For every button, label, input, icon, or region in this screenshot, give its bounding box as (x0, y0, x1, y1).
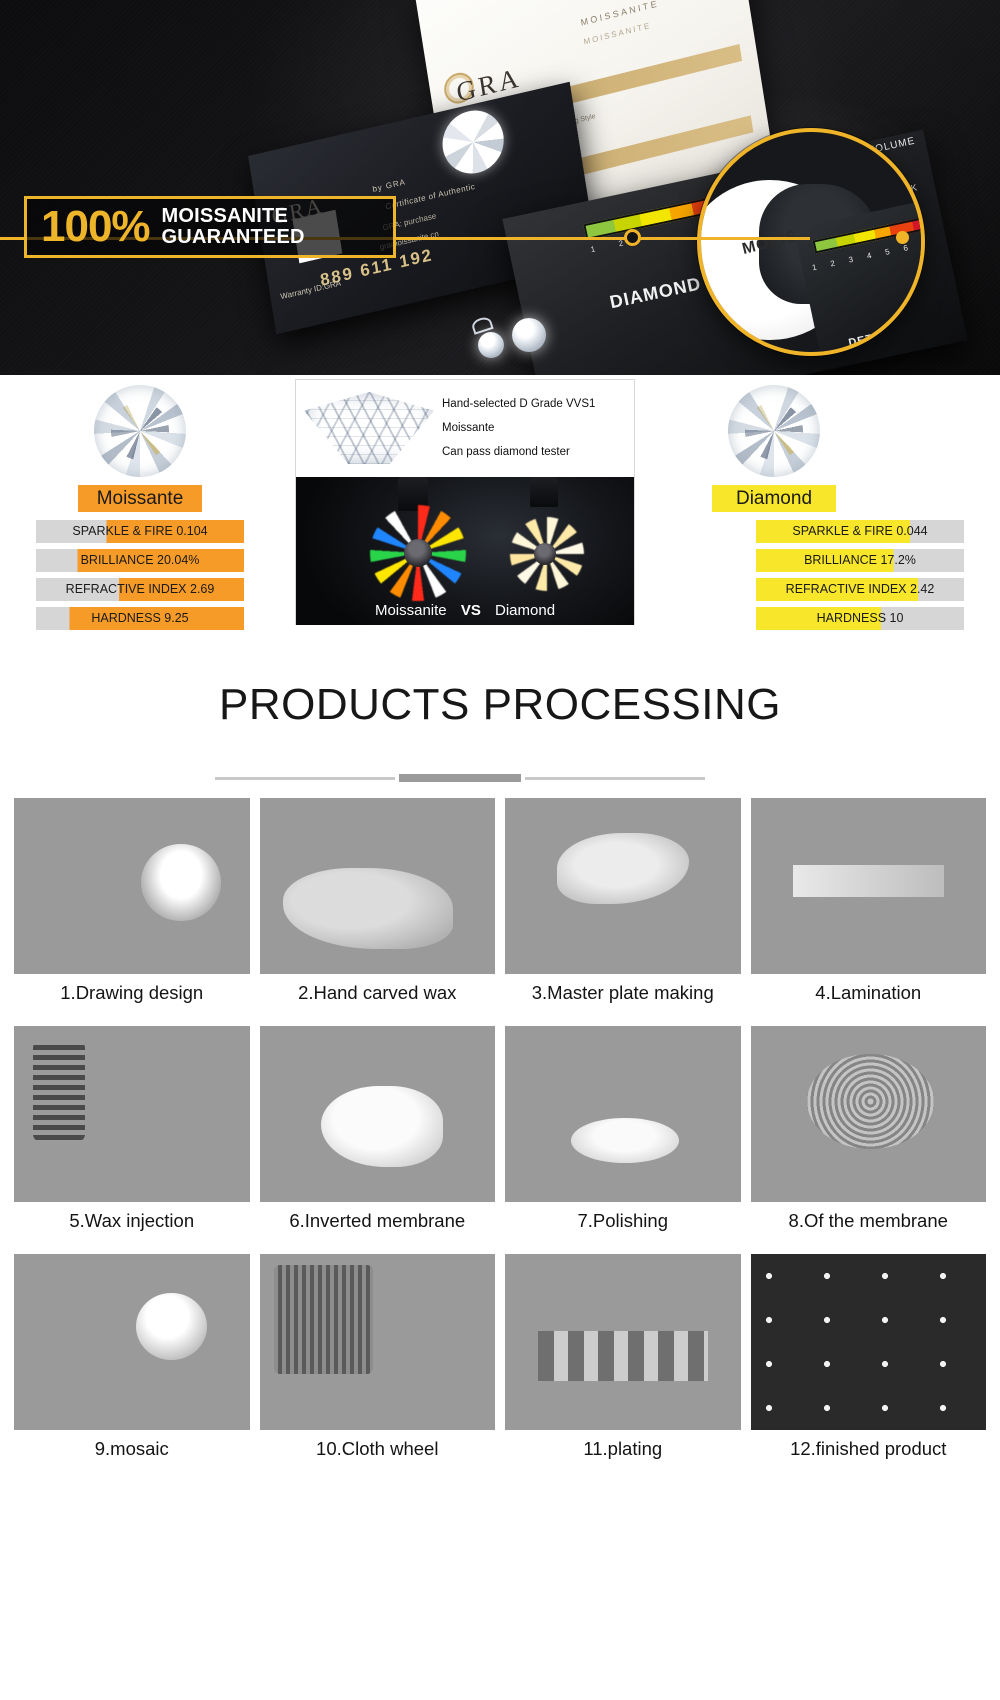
side-view-gem-facets (304, 392, 434, 464)
guarantee-badge: 100% MOISSANITE GUARANTEED (24, 196, 396, 258)
divider-segment-left (215, 777, 395, 780)
warranty-diamond-icon (438, 104, 508, 179)
step-thumbnail (14, 1026, 250, 1202)
callout-source-dot (624, 229, 641, 246)
processing-step: 3.Master plate making (505, 798, 741, 1018)
step-caption: 11.plating (505, 1430, 741, 1474)
earring-large-stone (512, 318, 546, 352)
step-caption: 2.Hand carved wax (260, 974, 496, 1018)
feature-bullet: Moissante (442, 416, 630, 440)
step-thumbnail (260, 1254, 496, 1430)
step-caption: 6.Inverted membrane (260, 1202, 496, 1246)
tester-device-label: DIAMOND (608, 273, 703, 313)
processing-step: 12.finished product (751, 1254, 987, 1474)
processing-step: 5.Wax injection (14, 1026, 250, 1246)
step-thumbnail (505, 1026, 741, 1202)
processing-step: 9.mosaic (14, 1254, 250, 1474)
processing-step: 1.Drawing design (14, 798, 250, 1018)
step-thumbnail (14, 798, 250, 974)
processing-step: 6.Inverted membrane (260, 1026, 496, 1246)
processing-step: 4.Lamination (751, 798, 987, 1018)
step-thumbnail (14, 1254, 250, 1430)
tweezer-holder-right (530, 477, 558, 507)
center-panel-text-area: Hand-selected D Grade VVS1 Moissante Can… (296, 380, 634, 477)
caption-right-label: Diamond (495, 602, 555, 619)
step-thumbnail (260, 798, 496, 974)
diamond-stone-core (534, 543, 556, 565)
step-thumbnail (751, 1026, 987, 1202)
caption-left-label: Moissanite (375, 602, 447, 619)
feature-bullet: Can pass diamond tester (442, 440, 630, 464)
step-caption: 9.mosaic (14, 1430, 250, 1474)
warranty-id-label: Warranty ID:GRA (280, 278, 342, 301)
sparkle-comparison-photo: Moissanite VS Diamond (296, 477, 634, 625)
diamond-spec-row: SPARKLE & FIRE 0.044 (756, 520, 964, 543)
processing-row: 1.Drawing design 2.Hand carved wax 3.Mas… (14, 798, 986, 1018)
moissanite-spec-row: BRILLIANCE 20.04% (36, 549, 244, 572)
callout-target-dot (896, 231, 909, 244)
guarantee-text: MOISSANITE GUARANTEED (162, 206, 305, 248)
processing-step: 7.Polishing (505, 1026, 741, 1246)
title-divider (215, 774, 705, 782)
divider-segment-right (525, 777, 705, 780)
step-caption: 4.Lamination (751, 974, 987, 1018)
hero-banner: GRA MOISSANITE MOISSANITE MW11182 GRADIN… (0, 0, 1000, 375)
rings-tray-grid (751, 1254, 987, 1430)
magnifier-zoom-circle: MOISSANITE 1 2 3 4 5 6 7 8 DIA DETECTOR (697, 128, 925, 356)
step-thumbnail (260, 1026, 496, 1202)
processing-step: 2.Hand carved wax (260, 798, 496, 1018)
page-title: PRODUCTS PROCESSING (0, 680, 1000, 730)
step-caption: 10.Cloth wheel (260, 1430, 496, 1474)
comparison-caption: Moissanite VS Diamond (296, 602, 634, 619)
step-caption: 8.Of the membrane (751, 1202, 987, 1246)
diamond-gem-icon (728, 385, 820, 477)
processing-step: 11.plating (505, 1254, 741, 1474)
diamond-spec-row: HARDNESS 10 (756, 607, 964, 630)
moissanite-spec-row: SPARKLE & FIRE 0.104 (36, 520, 244, 543)
guarantee-line-2: GUARANTEED (162, 227, 305, 248)
moissanite-gem-icon (94, 385, 186, 477)
diamond-spec-row: REFRACTIVE INDEX 2.42 (756, 578, 964, 601)
step-caption: 3.Master plate making (505, 974, 741, 1018)
step-thumbnail (751, 798, 987, 974)
guarantee-percent: 100% (27, 205, 150, 249)
step-caption: 7.Polishing (505, 1202, 741, 1246)
warranty-by-line: by GRA (372, 177, 407, 194)
feature-bullet: Hand-selected D Grade VVS1 (442, 392, 630, 416)
feature-bullet-list: Hand-selected D Grade VVS1 Moissante Can… (442, 392, 630, 464)
step-caption: 5.Wax injection (14, 1202, 250, 1246)
processing-step: 8.Of the membrane (751, 1026, 987, 1246)
diamond-spec-row: BRILLIANCE 17.2% (756, 549, 964, 572)
step-thumbnail (751, 1254, 987, 1430)
step-thumbnail (505, 1254, 741, 1430)
step-thumbnail (505, 798, 741, 974)
diamond-title-chip: Diamond (712, 485, 836, 512)
step-caption: 1.Drawing design (14, 974, 250, 1018)
center-feature-panel: Hand-selected D Grade VVS1 Moissante Can… (295, 379, 635, 625)
divider-center-block (399, 774, 521, 782)
processing-step: 10.Cloth wheel (260, 1254, 496, 1474)
moissanite-spec-row: REFRACTIVE INDEX 2.69 (36, 578, 244, 601)
processing-row: 5.Wax injection 6.Inverted membrane 7.Po… (14, 1026, 986, 1246)
magnifier-detector-label: DETECTOR (847, 323, 916, 349)
processing-steps-grid: 1.Drawing design 2.Hand carved wax 3.Mas… (14, 798, 986, 1482)
moissanite-title-chip: Moissante (78, 485, 202, 512)
moissanite-spec-row: HARDNESS 9.25 (36, 607, 244, 630)
moissanite-vs-diamond-comparison: Moissante SPARKLE & FIRE 0.104 BRILLIANC… (0, 375, 1000, 625)
earring-small-stone (478, 332, 504, 358)
product-detail-page: GRA MOISSANITE MOISSANITE MW11182 GRADIN… (0, 0, 1000, 1700)
step-caption: 12.finished product (751, 1430, 987, 1474)
guarantee-line-1: MOISSANITE (162, 206, 305, 227)
processing-row: 9.mosaic 10.Cloth wheel 11.plating 12.fi… (14, 1254, 986, 1474)
caption-vs-label: VS (451, 602, 491, 619)
moissanite-stone-core (404, 539, 432, 567)
